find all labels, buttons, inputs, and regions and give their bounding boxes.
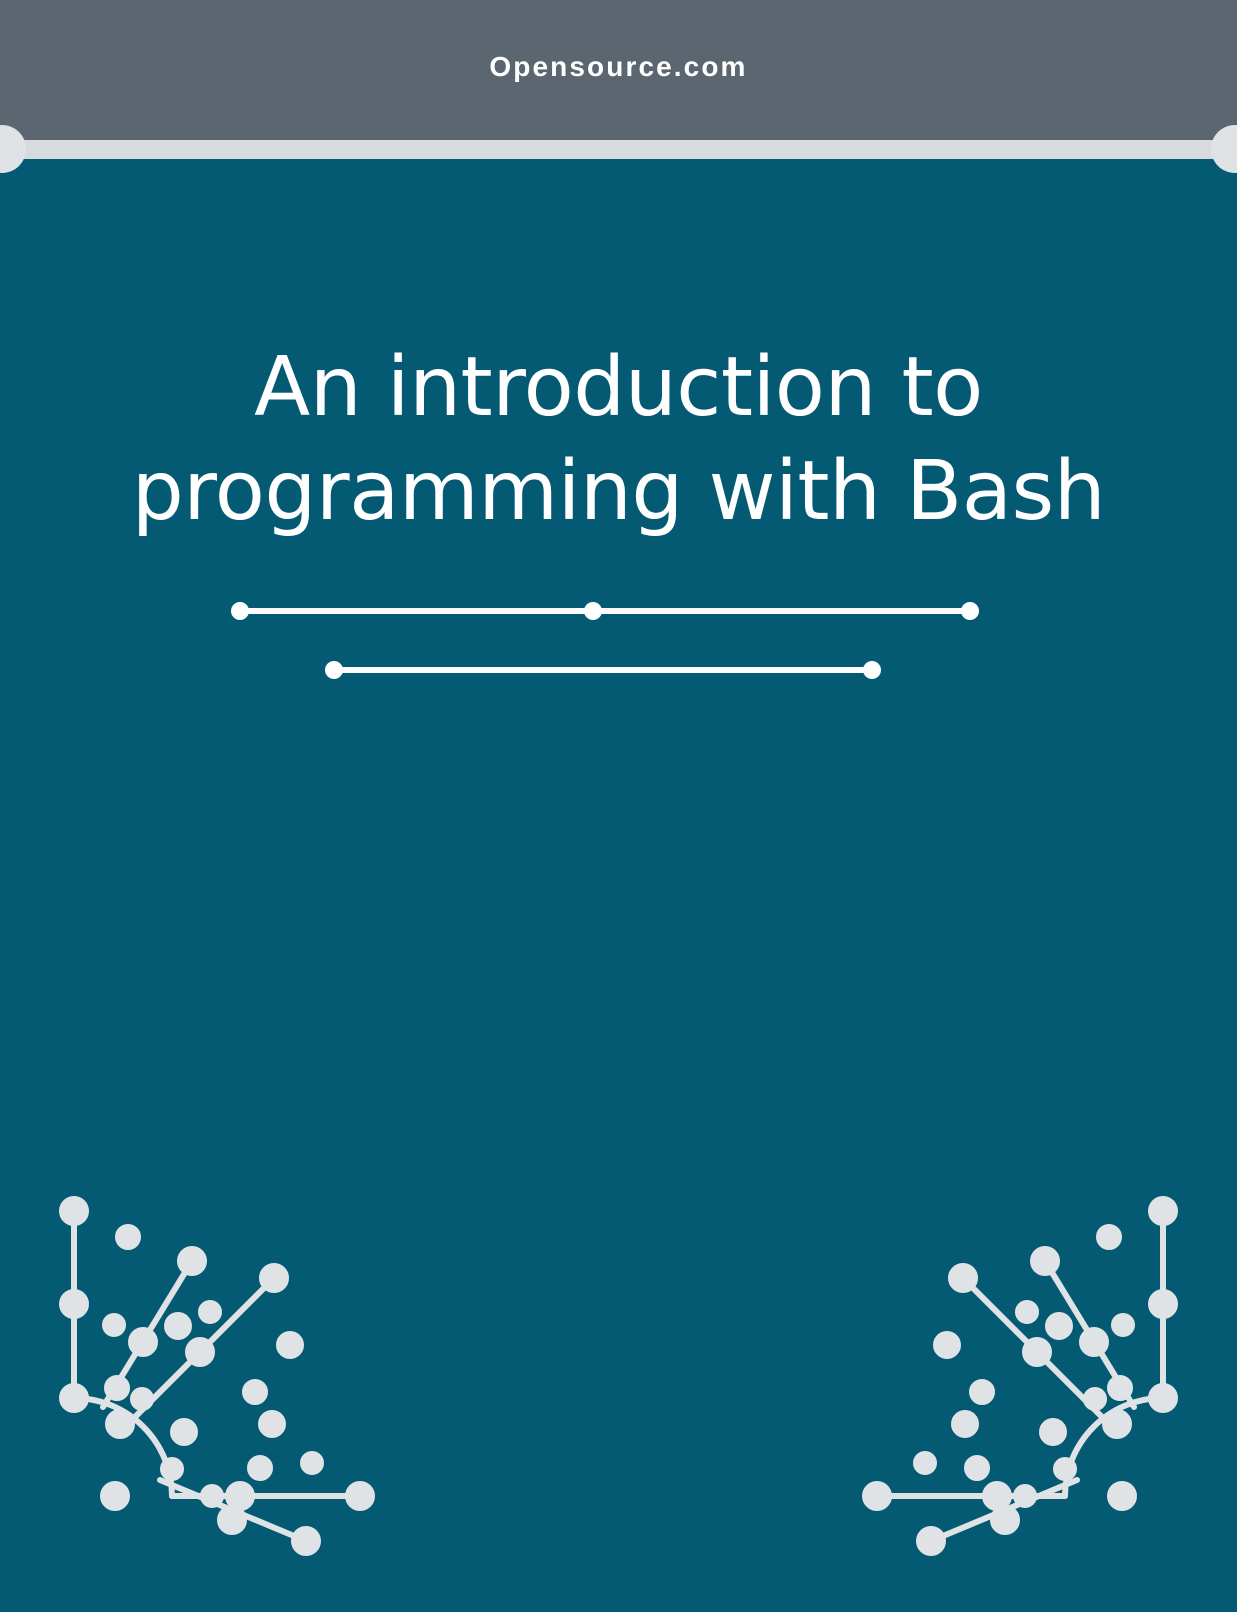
rule-lower-dot-start [325, 661, 343, 679]
cover-page: Opensource.com An introduction to progra… [0, 0, 1237, 1612]
node-network-corner-icon-right [837, 1192, 1237, 1612]
page-title-line-1: An introduction to [0, 336, 1237, 440]
decorative-rule-lower [334, 667, 872, 673]
rule-upper-dot-start [231, 602, 249, 620]
decorative-rule-upper [240, 608, 975, 614]
rule-upper-dot-middle [584, 602, 602, 620]
site-name: Opensource.com [0, 0, 1237, 140]
rule-upper-dot-end [961, 602, 979, 620]
page-title-line-2: programming with Bash [0, 440, 1237, 544]
header-divider [0, 140, 1237, 159]
page-title: An introduction to programming with Bash [0, 336, 1237, 544]
rule-lower-dot-end [863, 661, 881, 679]
node-network-corner-icon-left [0, 1192, 400, 1612]
